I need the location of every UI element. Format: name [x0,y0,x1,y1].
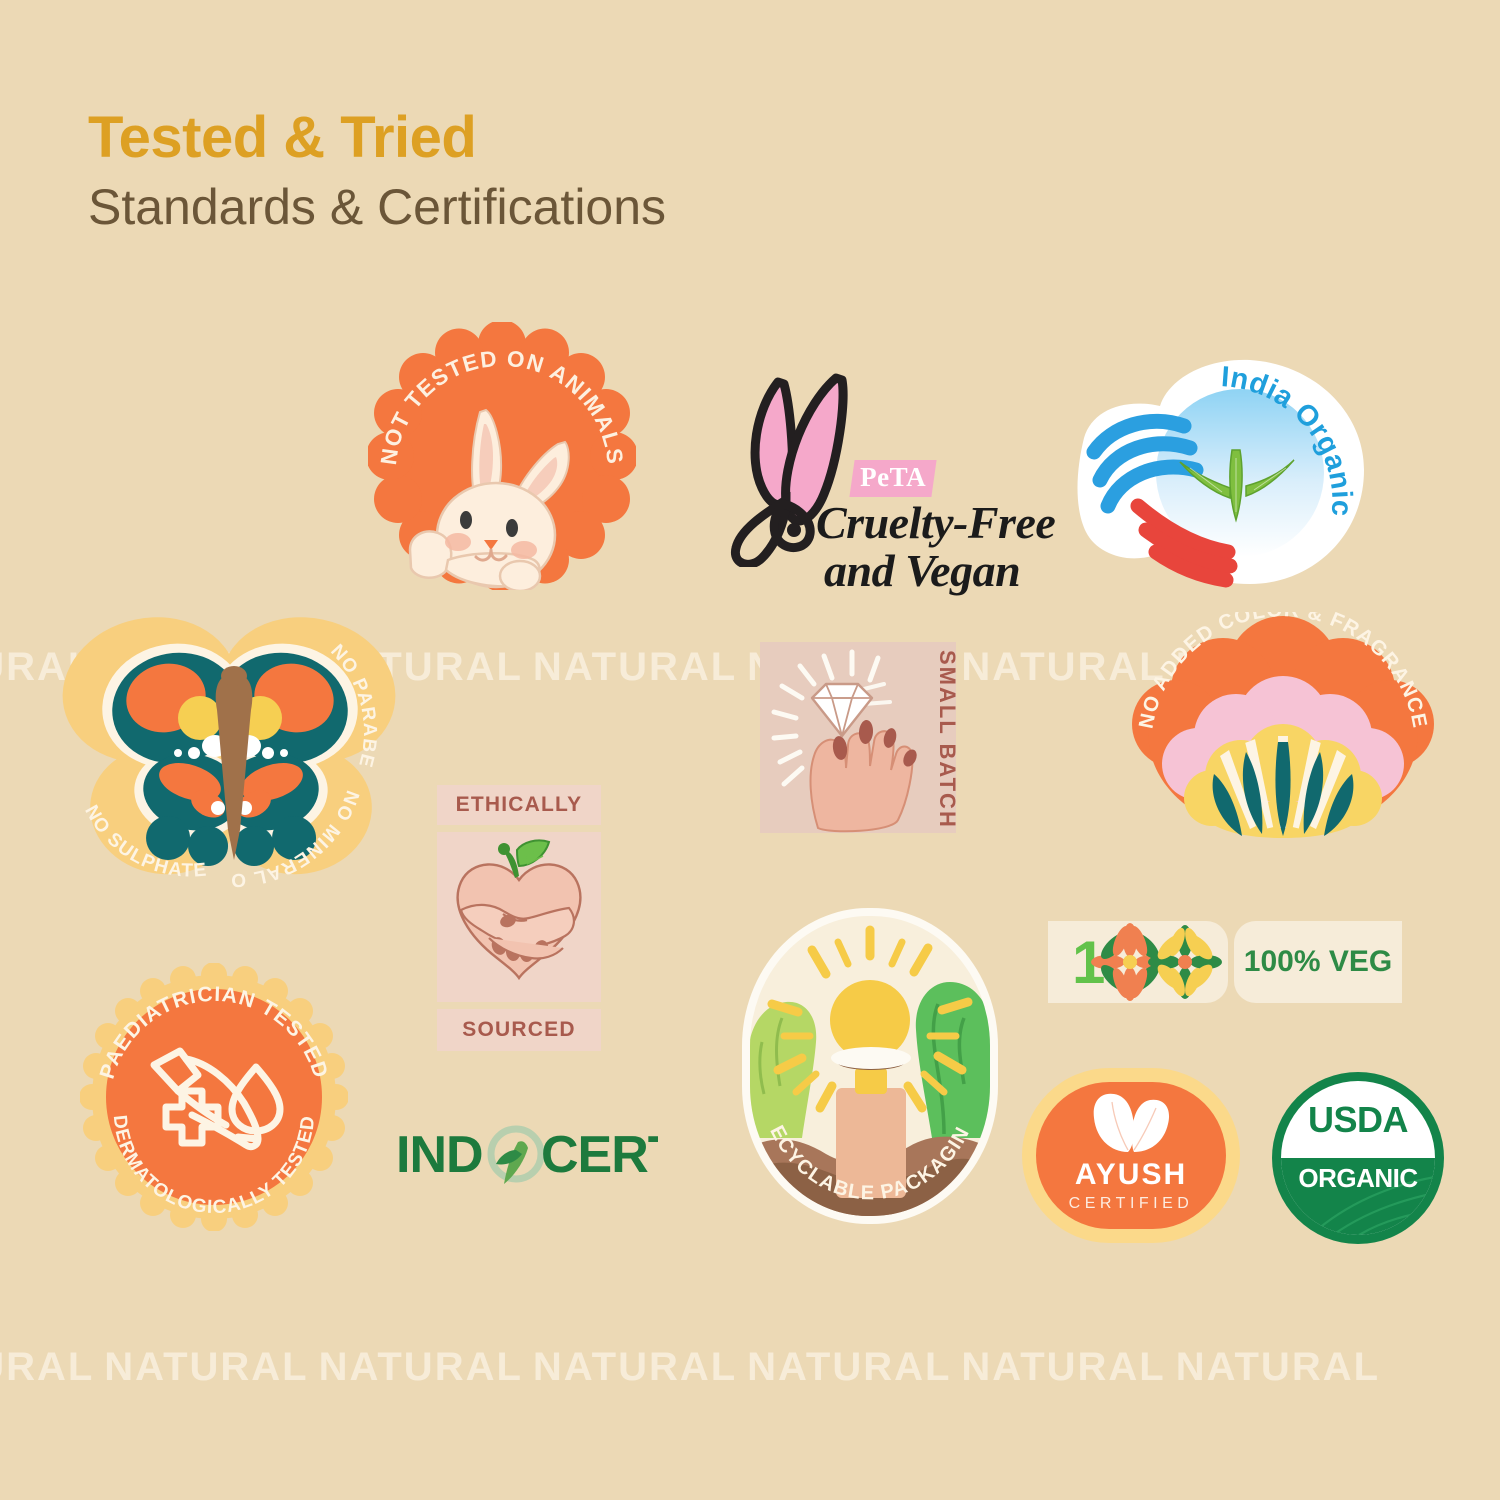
hand-diamond-icon [760,642,956,833]
ethically-sourced-top-label: ETHICALLY [437,785,601,825]
peta-wordmark-tag: PeTA [849,460,936,497]
peta-line-1: Cruelty-Free [816,496,1055,549]
page-title: Tested & Tried [88,104,476,171]
sun-bottle-trees-icon: RECYCLABLE PACKAGING [742,908,998,1224]
watermark-text: NATURAL [533,1345,747,1390]
badge-ayush-certified[interactable]: AYUSH CERTIFIED [1022,1068,1240,1243]
badge-india-organic[interactable]: India Organic [1064,340,1394,602]
watermark-text: NATURAL [961,1345,1175,1390]
certification-board: NATURAL NATURAL NATURAL NATURAL NATURAL … [0,0,1500,1500]
badge-usda-organic[interactable]: USDA ORGANIC [1272,1072,1444,1244]
shell-flower-icon: NO ADDED COLOR & FRAGRANCE [1128,612,1438,850]
ethically-sourced-top-panel: ETHICALLY [437,785,601,825]
usda-seal-face: USDA ORGANIC [1281,1081,1435,1235]
india-organic-icon: India Organic [1064,340,1394,602]
badge-recyclable-packaging[interactable]: RECYCLABLE PACKAGING [742,908,998,1224]
badge-peta-cruelty-free[interactable]: PeTA Cruelty-Free and Vegan [728,372,1058,592]
badge-indocert[interactable]: IND CERT [396,1118,658,1188]
ethically-sourced-bottom-label: SOURCED [437,1009,601,1051]
badge-100-percent-veg[interactable]: 1 [1034,907,1416,1017]
peta-wordmark: PeTA [860,462,926,493]
watermark-text: NATURAL [747,1345,961,1390]
watermark-text: NATURAL [319,1345,533,1390]
usda-line-2: ORGANIC [1281,1163,1435,1194]
watermark-text: NATURAL [533,645,747,690]
watermark-text: NATURAL [1176,1345,1390,1390]
indocert-logo: IND CERT [396,1118,658,1188]
ayush-line-1: AYUSH [1022,1158,1240,1192]
two-leaves-icon [1022,1068,1240,1243]
badge-not-tested-on-animals[interactable]: NOT TESTED ON ANIMALS [368,322,636,590]
badge-paediatrician-tested[interactable]: PAEDIATRICIAN TESTED DERMATOLOGICALLY TE… [80,963,348,1231]
badge-no-added-color-fragrance[interactable]: NO ADDED COLOR & FRAGRANCE [1128,612,1438,850]
peta-line-2: and Vegan [824,544,1020,597]
ethically-sourced-art-panel [437,832,601,1002]
ethically-sourced-bottom-panel: SOURCED [437,1009,601,1051]
watermark-text: NATURAL [0,1345,104,1390]
veg-label: 100% VEG [1234,921,1402,1003]
paediatrician-badge-art: PAEDIATRICIAN TESTED DERMATOLOGICALLY TE… [80,963,348,1231]
rabbit-icon [402,400,607,590]
flower-icon [1048,921,1228,1003]
small-batch-label: SMALL BATCH [934,650,960,829]
small-batch-art-panel [760,642,956,833]
indocert-part1: IND [396,1126,483,1184]
veg-label-panel: 100% VEG [1234,921,1402,1003]
watermark-row-bottom: NATURAL NATURAL NATURAL NATURAL NATURAL … [0,1345,1390,1390]
page-subtitle: Standards & Certifications [88,178,666,236]
heart-handshake-apple-icon [437,832,601,1002]
badge-ethically-sourced[interactable]: ETHICALLY [411,757,627,1057]
watermark-text: NATURAL [104,1345,318,1390]
badge-butterfly-free-from[interactable]: NO PARABEN NO MINERAL OIL NO SULPHATE [58,598,410,898]
butterfly-icon: NO PARABEN NO MINERAL OIL NO SULPHATE [58,598,410,898]
ayush-line-2: CERTIFIED [1022,1195,1240,1213]
badge-small-batch[interactable]: SMALL BATCH [738,620,978,855]
indocert-part2: CERT [541,1126,658,1184]
veg-icon-panel: 1 [1048,921,1228,1003]
usda-line-1: USDA [1281,1099,1435,1141]
